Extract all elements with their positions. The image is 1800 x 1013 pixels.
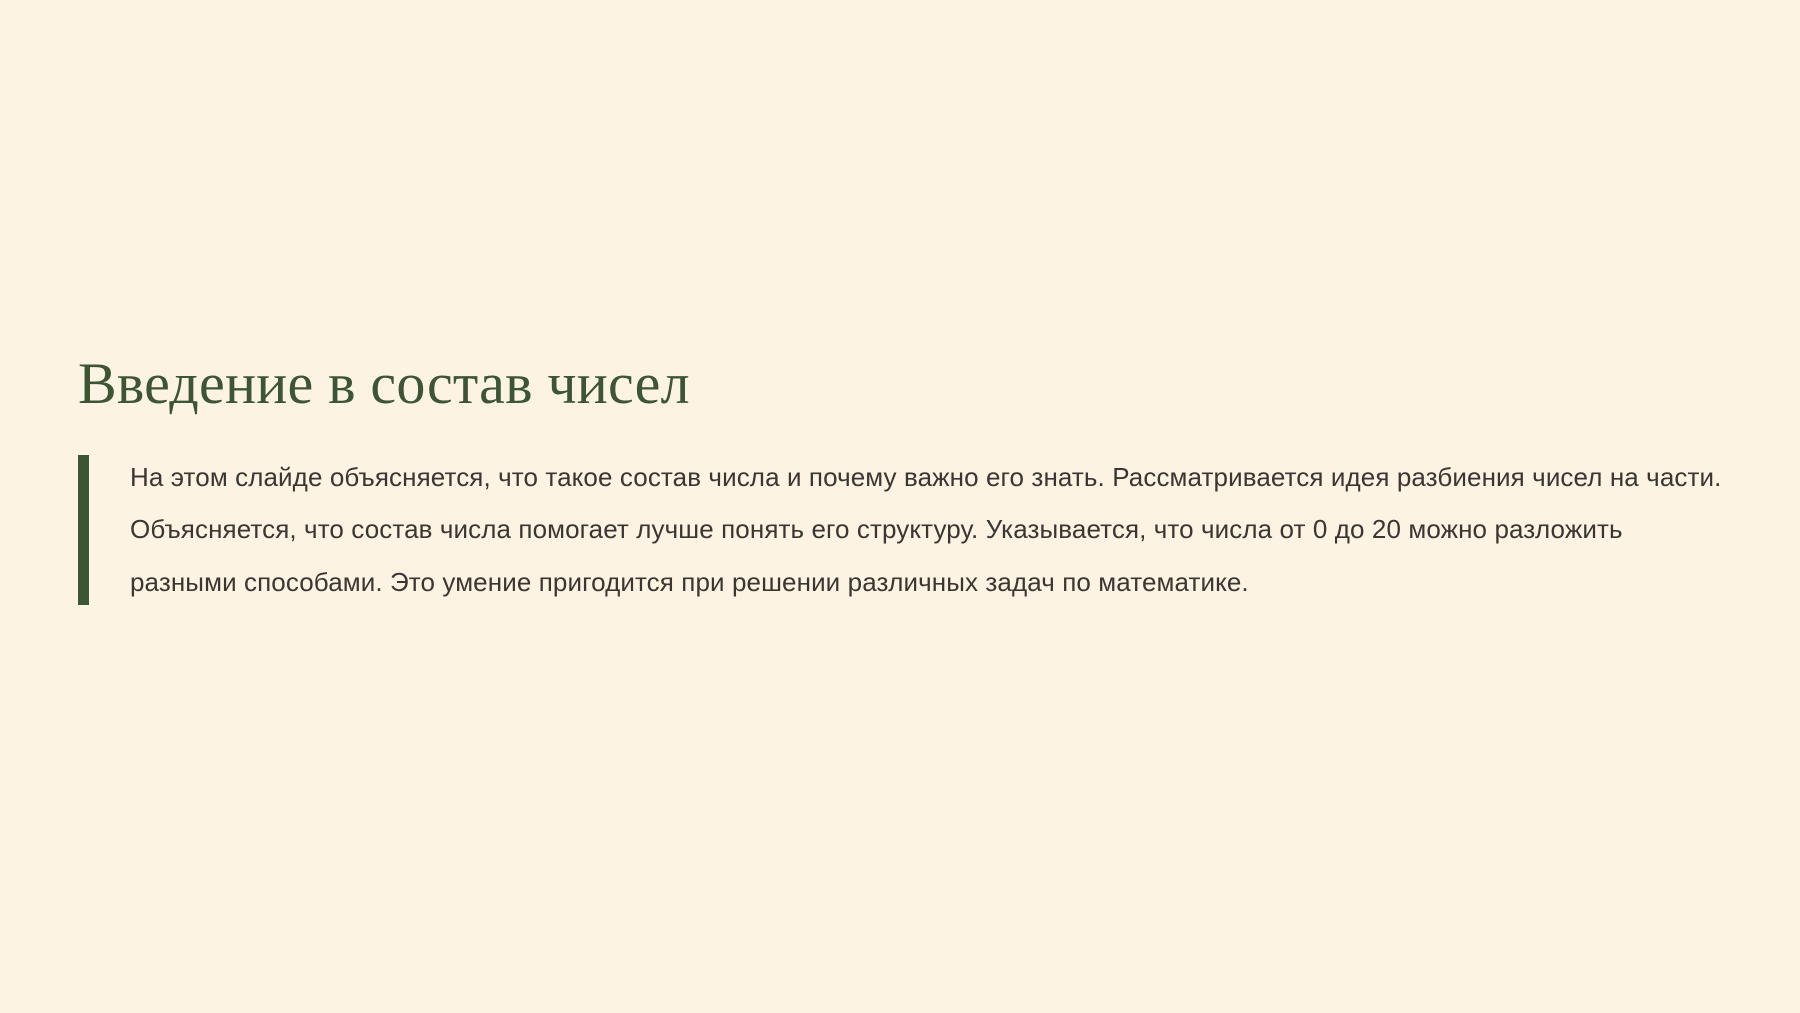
- body-paragraph: На этом слайде объясняется, что такое со…: [130, 451, 1728, 609]
- accent-bar: [78, 455, 89, 605]
- slide-content-area: Введение в состав чисел На этом слайде о…: [78, 352, 1728, 609]
- slide-canvas: Введение в состав чисел На этом слайде о…: [0, 0, 1800, 1013]
- page-title: Введение в состав чисел: [78, 352, 1728, 417]
- quote-block: На этом слайде объясняется, что такое со…: [78, 451, 1728, 609]
